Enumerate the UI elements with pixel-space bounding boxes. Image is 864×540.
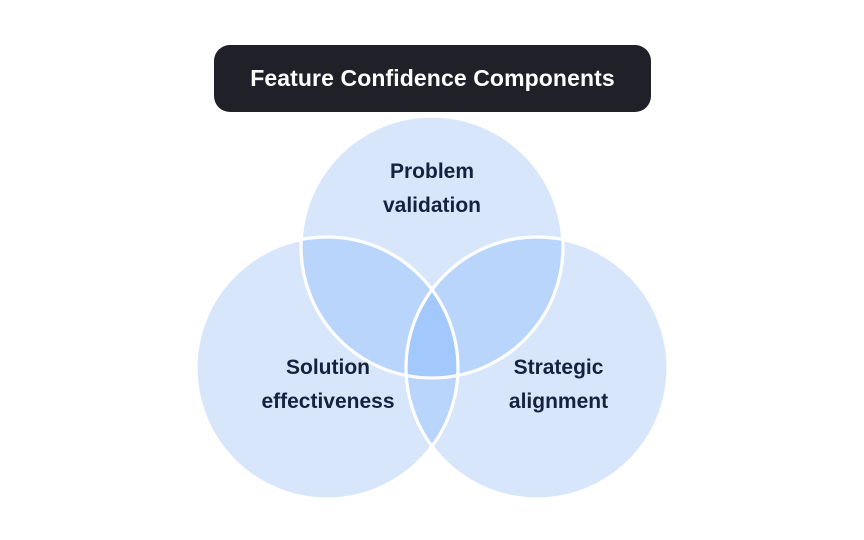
diagram-title-badge: Feature Confidence Components	[214, 45, 651, 112]
venn-diagram-stage: Feature Confidence Components Problem va…	[0, 0, 864, 540]
page-title: Feature Confidence Components	[250, 67, 615, 90]
